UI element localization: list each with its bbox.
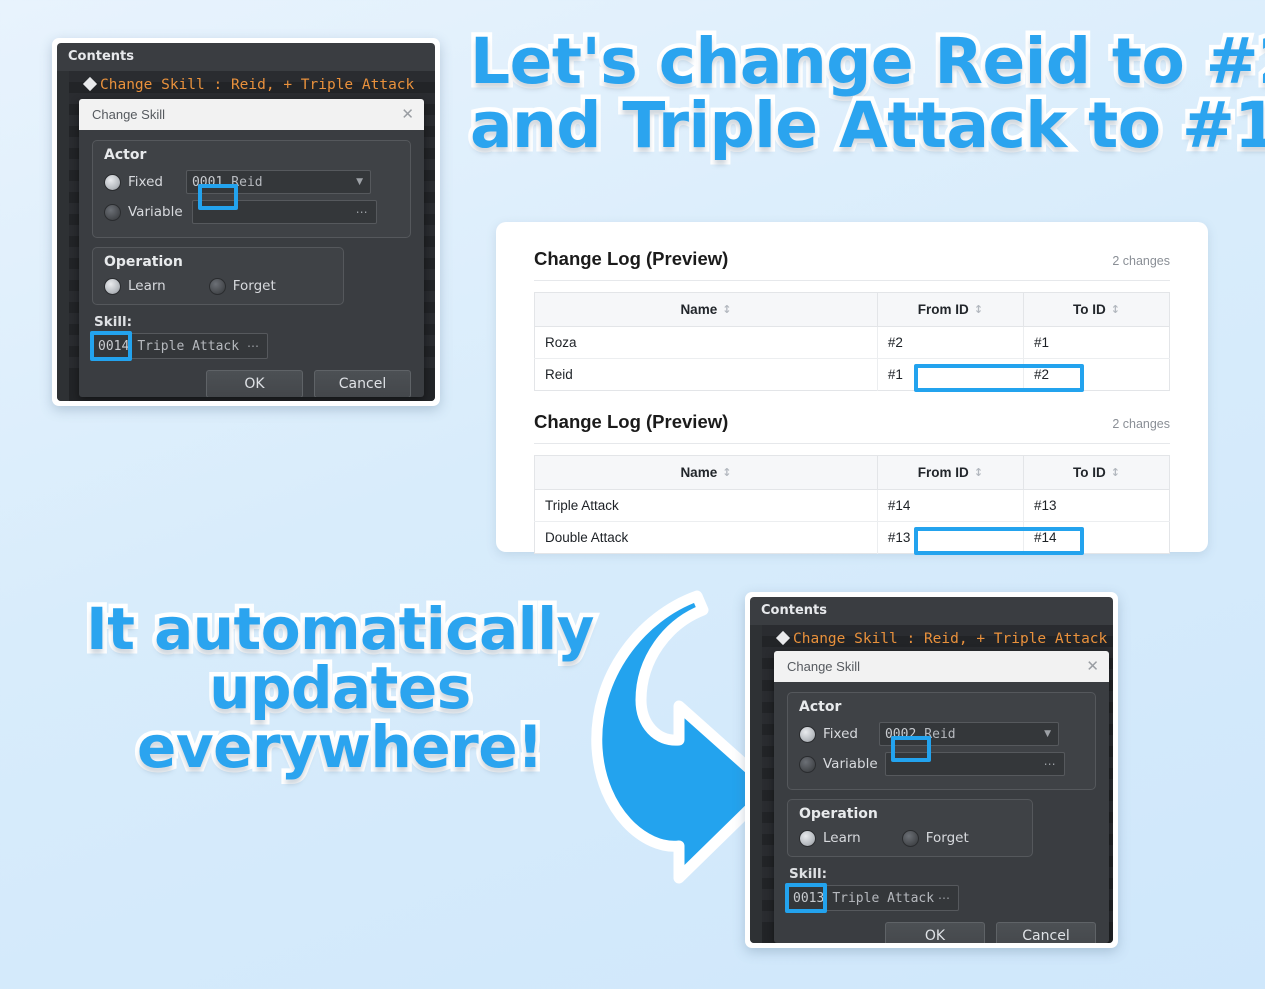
column-label: Name bbox=[680, 302, 717, 317]
sort-icon[interactable]: ↕ bbox=[974, 303, 983, 316]
modal-button-row: OK Cancel bbox=[787, 922, 1096, 943]
actor-variable-field[interactable]: ⋯ bbox=[885, 752, 1065, 776]
change-count-badge: 2 changes bbox=[1112, 417, 1170, 431]
actor-variable-row: Variable ⋯ bbox=[104, 197, 399, 227]
actor-name-value: Reid bbox=[921, 727, 955, 742]
change-log-table: Name↕ From ID↕ To ID↕ Triple Attack #14 … bbox=[534, 455, 1170, 554]
headline-top: Let's change Reid to #2 and Triple Attac… bbox=[470, 30, 1250, 159]
radio-forget-label: Forget bbox=[233, 278, 276, 294]
actor-variable-row: Variable ⋯ bbox=[799, 749, 1084, 779]
headline-bottom-line-1: It automatically bbox=[60, 600, 620, 659]
modal-title: Change Skill bbox=[787, 659, 860, 674]
change-log-block-actors: Change Log (Preview) 2 changes Name↕ Fro… bbox=[534, 248, 1170, 391]
column-label: From ID bbox=[918, 302, 969, 317]
headline-bottom: It automatically updates everywhere! bbox=[60, 600, 620, 777]
headline-top-line-2: and Triple Attack to #13 bbox=[470, 94, 1250, 158]
table-header-row: Name↕ From ID↕ To ID↕ bbox=[535, 456, 1170, 490]
change-log-table: Name↕ From ID↕ To ID↕ Roza #2 #1 Reid #1… bbox=[534, 292, 1170, 391]
sort-icon[interactable]: ↕ bbox=[1111, 303, 1120, 316]
table-row: Reid #1 #2 bbox=[535, 359, 1170, 391]
column-label: Name bbox=[680, 465, 717, 480]
ellipsis-icon[interactable]: ⋯ bbox=[247, 339, 267, 353]
skill-select[interactable]: 0014 Triple Attack ⋯ bbox=[92, 333, 268, 359]
headline-top-line-1: Let's change Reid to #2 bbox=[470, 30, 1250, 94]
operation-group: Operation Learn Forget bbox=[787, 799, 1033, 857]
table-row: Roza #2 #1 bbox=[535, 327, 1170, 359]
actor-fixed-row: Fixed 0002 Reid ▼ bbox=[799, 719, 1084, 749]
change-skill-modal: Change Skill ✕ Actor Fixed 0002 Reid ▼ bbox=[774, 651, 1109, 943]
radio-variable-label: Variable bbox=[128, 204, 183, 220]
radio-fixed[interactable] bbox=[799, 726, 816, 743]
operation-group: Operation Learn Forget bbox=[92, 247, 344, 305]
radio-variable-label: Variable bbox=[823, 756, 878, 772]
actor-group-title: Actor bbox=[799, 699, 1084, 715]
sort-icon[interactable]: ↕ bbox=[722, 466, 731, 479]
column-header-name[interactable]: Name↕ bbox=[535, 293, 878, 327]
table-row: Double Attack #13 #14 bbox=[535, 522, 1170, 554]
actor-group-title: Actor bbox=[104, 147, 399, 163]
cancel-button[interactable]: Cancel bbox=[996, 922, 1096, 943]
actor-id-value: 0001 bbox=[187, 175, 228, 190]
column-label: To ID bbox=[1073, 465, 1106, 480]
change-skill-window-after: Contents Change Skill : Reid, + Triple A… bbox=[745, 592, 1118, 948]
divider bbox=[534, 280, 1170, 281]
radio-fixed[interactable] bbox=[104, 174, 121, 191]
change-count-badge: 2 changes bbox=[1112, 254, 1170, 268]
radio-forget[interactable] bbox=[209, 278, 226, 295]
cell-name: Reid bbox=[535, 359, 878, 391]
table-row: Triple Attack #14 #13 bbox=[535, 490, 1170, 522]
event-command-line[interactable]: Change Skill : Reid, + Triple Attack bbox=[778, 631, 1107, 647]
change-log-title: Change Log (Preview) bbox=[534, 248, 728, 270]
window-gutter bbox=[750, 625, 762, 943]
operation-row: Learn Forget bbox=[104, 274, 332, 298]
actor-id-value: 0002 bbox=[880, 727, 921, 742]
event-bullet-icon bbox=[776, 631, 790, 645]
ok-button[interactable]: OK bbox=[885, 922, 985, 943]
event-command-line[interactable]: Change Skill : Reid, + Triple Attack bbox=[85, 77, 414, 93]
contents-label: Contents bbox=[761, 603, 827, 618]
operation-group-title: Operation bbox=[799, 806, 1021, 822]
sort-icon[interactable]: ↕ bbox=[1111, 466, 1120, 479]
operation-row: Learn Forget bbox=[799, 826, 1021, 850]
radio-learn-label: Learn bbox=[128, 278, 166, 294]
column-header-from-id[interactable]: From ID↕ bbox=[877, 293, 1023, 327]
radio-learn[interactable] bbox=[799, 830, 816, 847]
change-log-title: Change Log (Preview) bbox=[534, 411, 728, 433]
modal-title-bar: Change Skill ✕ bbox=[79, 99, 424, 130]
radio-learn[interactable] bbox=[104, 278, 121, 295]
radio-variable[interactable] bbox=[104, 204, 121, 221]
skill-name-value: Triple Attack bbox=[134, 339, 239, 354]
cell-to-id: #2 bbox=[1023, 359, 1169, 391]
skill-label: Skill: bbox=[94, 314, 411, 330]
event-bullet-icon bbox=[83, 77, 97, 91]
column-label: To ID bbox=[1073, 302, 1106, 317]
cell-to-id: #13 bbox=[1023, 490, 1169, 522]
radio-fixed-label: Fixed bbox=[823, 726, 858, 742]
cell-to-id: #1 bbox=[1023, 327, 1169, 359]
sort-icon[interactable]: ↕ bbox=[974, 466, 983, 479]
cell-name: Double Attack bbox=[535, 522, 878, 554]
cell-name: Triple Attack bbox=[535, 490, 878, 522]
radio-fixed-label: Fixed bbox=[128, 174, 163, 190]
column-header-from-id[interactable]: From ID↕ bbox=[877, 456, 1023, 490]
modal-title: Change Skill bbox=[92, 107, 165, 122]
cell-from-id: #13 bbox=[877, 522, 1023, 554]
actor-group: Actor Fixed 0002 Reid ▼ Variable bbox=[787, 692, 1096, 790]
ellipsis-icon[interactable]: ⋯ bbox=[938, 891, 958, 905]
headline-bottom-line-3: everywhere! bbox=[60, 718, 620, 777]
actor-name-value: Reid bbox=[228, 175, 262, 190]
column-header-to-id[interactable]: To ID↕ bbox=[1023, 293, 1169, 327]
headline-bottom-line-2: updates bbox=[60, 659, 620, 718]
cell-name: Roza bbox=[535, 327, 878, 359]
skill-name-value: Triple Attack bbox=[829, 891, 934, 906]
change-log-block-skills: Change Log (Preview) 2 changes Name↕ Fro… bbox=[534, 411, 1170, 554]
chevron-down-icon[interactable]: ▼ bbox=[1044, 729, 1058, 739]
skill-select[interactable]: 0013 Triple Attack ⋯ bbox=[787, 885, 959, 911]
cell-from-id: #14 bbox=[877, 490, 1023, 522]
column-header-to-id[interactable]: To ID↕ bbox=[1023, 456, 1169, 490]
contents-label: Contents bbox=[68, 49, 134, 64]
radio-forget[interactable] bbox=[902, 830, 919, 847]
column-label: From ID bbox=[918, 465, 969, 480]
radio-variable[interactable] bbox=[799, 756, 816, 773]
actor-fixed-select[interactable]: 0002 Reid ▼ bbox=[879, 722, 1059, 746]
cell-to-id: #14 bbox=[1023, 522, 1169, 554]
ellipsis-icon[interactable]: ⋯ bbox=[1044, 757, 1064, 771]
actor-group: Actor Fixed 0001 Reid ▼ Variable bbox=[92, 140, 411, 238]
change-skill-modal: Change Skill ✕ Actor Fixed 0001 Reid ▼ bbox=[79, 99, 424, 397]
operation-group-title: Operation bbox=[104, 254, 332, 270]
close-icon[interactable]: ✕ bbox=[401, 107, 414, 122]
actor-fixed-row: Fixed 0001 Reid ▼ bbox=[104, 167, 399, 197]
modal-button-row: OK Cancel bbox=[92, 370, 411, 397]
column-header-name[interactable]: Name↕ bbox=[535, 456, 878, 490]
radio-forget-label: Forget bbox=[926, 830, 969, 846]
table-header-row: Name↕ From ID↕ To ID↕ bbox=[535, 293, 1170, 327]
event-command-text: Change Skill : Reid, + Triple Attack bbox=[100, 77, 414, 93]
chevron-down-icon[interactable]: ▼ bbox=[356, 177, 370, 187]
ellipsis-icon[interactable]: ⋯ bbox=[356, 205, 376, 219]
radio-learn-label: Learn bbox=[823, 830, 861, 846]
modal-title-bar: Change Skill ✕ bbox=[774, 651, 1109, 682]
cell-from-id: #1 bbox=[877, 359, 1023, 391]
close-icon[interactable]: ✕ bbox=[1086, 659, 1099, 674]
cell-from-id: #2 bbox=[877, 327, 1023, 359]
actor-variable-field[interactable]: ⋯ bbox=[192, 200, 377, 224]
skill-id-value: 0013 bbox=[788, 891, 829, 906]
sort-icon[interactable]: ↕ bbox=[722, 303, 731, 316]
ok-button[interactable]: OK bbox=[206, 370, 303, 397]
actor-fixed-select[interactable]: 0001 Reid ▼ bbox=[186, 170, 371, 194]
change-log-card: Change Log (Preview) 2 changes Name↕ Fro… bbox=[496, 222, 1208, 552]
skill-id-value: 0014 bbox=[93, 339, 134, 354]
cancel-button[interactable]: Cancel bbox=[314, 370, 411, 397]
divider bbox=[534, 443, 1170, 444]
skill-label: Skill: bbox=[789, 866, 1096, 882]
event-command-text: Change Skill : Reid, + Triple Attack bbox=[793, 631, 1107, 647]
change-skill-window-before: Contents Change Skill : Reid, + Triple A… bbox=[52, 38, 440, 406]
window-gutter bbox=[57, 71, 69, 401]
